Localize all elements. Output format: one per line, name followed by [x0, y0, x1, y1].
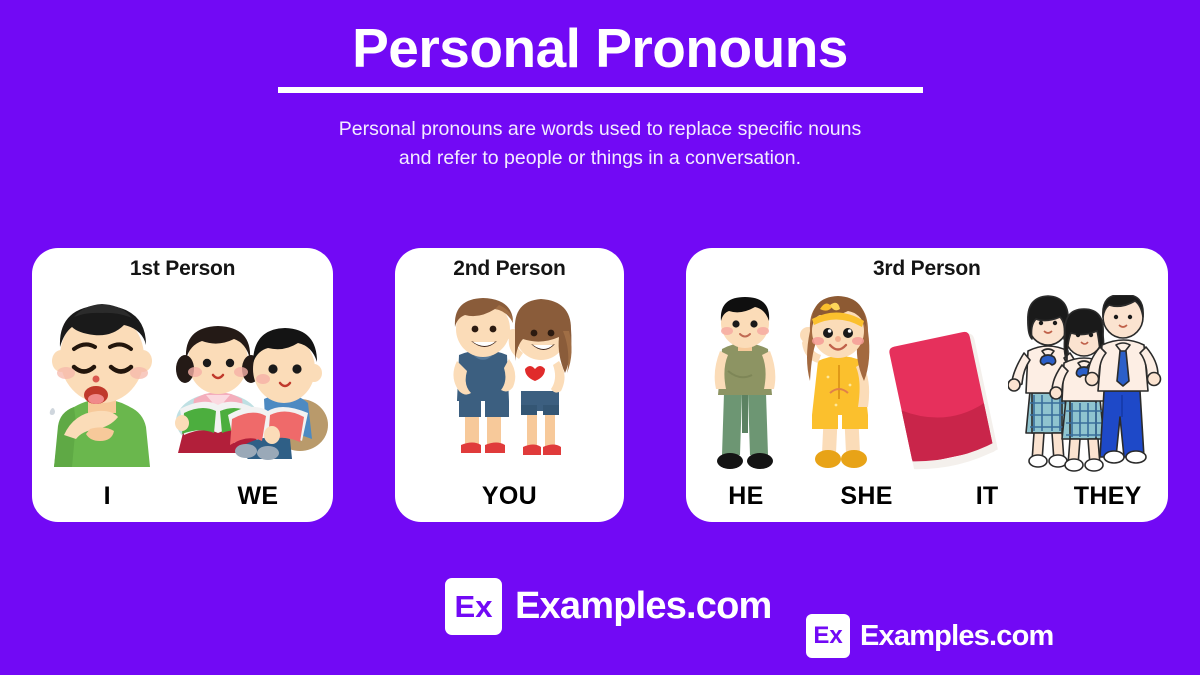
- title-underline: [278, 87, 923, 93]
- brand-logo-mark: Ex: [445, 578, 502, 635]
- boy-and-girl-talking-icon: [435, 297, 587, 467]
- pronoun-label-he: HE: [686, 482, 807, 511]
- watermark-logo-mark: Ex: [806, 614, 850, 658]
- card-title-1st-person: 1st Person: [32, 248, 333, 281]
- page-header: Personal Pronouns Personal pronouns are …: [0, 0, 1200, 173]
- pronoun-label-i: I: [32, 482, 183, 511]
- boy-standing-icon: [702, 297, 788, 477]
- card-1-labels: I WE: [32, 482, 333, 522]
- card-2nd-person: 2nd Person: [395, 248, 623, 522]
- card-2-labels: YOU: [395, 482, 623, 522]
- pronoun-label-she: SHE: [806, 482, 927, 511]
- subtitle-line-2: and refer to people or things in a conve…: [0, 144, 1200, 173]
- card-title-2nd-person: 2nd Person: [395, 248, 623, 281]
- pronoun-label-they: THEY: [1047, 482, 1168, 511]
- card-3-illustrations: [686, 281, 1168, 482]
- brand-logo-text: Examples.com: [515, 585, 772, 628]
- pronoun-label-it: IT: [927, 482, 1048, 511]
- boy-hand-on-chest-icon: [44, 295, 162, 467]
- pronoun-label-we: WE: [183, 482, 334, 511]
- card-2-illustrations: [395, 281, 623, 482]
- pronoun-cards-row: 1st Person: [32, 248, 1168, 522]
- page-subtitle: Personal pronouns are words used to repl…: [0, 115, 1200, 174]
- subtitle-line-1: Personal pronouns are words used to repl…: [0, 115, 1200, 144]
- two-children-reading-books-icon: [168, 317, 330, 469]
- card-1st-person: 1st Person: [32, 248, 333, 522]
- brand-logo[interactable]: Ex Examples.com: [445, 578, 772, 635]
- watermark-logo: Ex Examples.com: [806, 614, 1054, 658]
- red-book-icon: [884, 323, 1008, 473]
- card-1-illustrations: [32, 281, 333, 482]
- pronoun-label-you: YOU: [395, 482, 623, 511]
- girl-waving-icon: [790, 293, 886, 479]
- three-students-group-icon: [1008, 295, 1164, 477]
- page-title: Personal Pronouns: [0, 18, 1200, 79]
- card-3rd-person: 3rd Person: [686, 248, 1168, 522]
- card-3-labels: HE SHE IT THEY: [686, 482, 1168, 522]
- watermark-logo-text: Examples.com: [860, 620, 1054, 653]
- card-title-3rd-person: 3rd Person: [686, 248, 1168, 281]
